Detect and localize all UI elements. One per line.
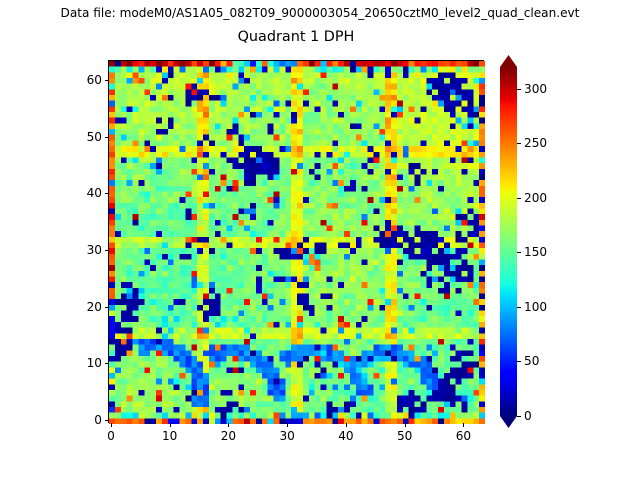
x-tick-label: 0 xyxy=(107,429,115,443)
colorbar-tick-label: 250 xyxy=(524,136,547,150)
x-tick-label: 50 xyxy=(397,429,412,443)
x-tick-label: 10 xyxy=(162,429,177,443)
y-tick-label: 50 xyxy=(62,130,102,144)
y-tick-label: 10 xyxy=(62,356,102,370)
y-tick-mark xyxy=(105,363,109,364)
y-tick-label: 20 xyxy=(62,300,102,314)
x-tick-mark xyxy=(111,423,112,427)
y-tick-mark xyxy=(105,420,109,421)
x-tick-mark xyxy=(405,423,406,427)
colorbar-tick-mark xyxy=(517,143,521,144)
x-tick-mark xyxy=(346,423,347,427)
colorbar-extend-top-arrow-icon xyxy=(500,55,517,67)
x-tick-label: 20 xyxy=(221,429,236,443)
colorbar-tick-label: 150 xyxy=(524,245,547,259)
x-tick-mark xyxy=(463,423,464,427)
figure-suptitle: Data file: modeM0/AS1A05_082T09_90000030… xyxy=(0,6,640,20)
colorbar-tick-mark xyxy=(517,307,521,308)
heatmap-image xyxy=(109,61,485,424)
colorbar-canvas xyxy=(500,67,517,416)
colorbar-tick-label: 50 xyxy=(524,354,539,368)
colorbar-tick-label: 300 xyxy=(524,82,547,96)
matplotlib-figure: Data file: modeM0/AS1A05_082T09_90000030… xyxy=(0,0,640,480)
colorbar-tick-mark xyxy=(517,361,521,362)
y-tick-mark xyxy=(105,193,109,194)
colorbar-tick-mark xyxy=(517,416,521,417)
heatmap-axes xyxy=(108,60,484,423)
x-tick-mark xyxy=(228,423,229,427)
y-tick-mark xyxy=(105,137,109,138)
y-tick-label: 40 xyxy=(62,186,102,200)
colorbar-tick-label: 100 xyxy=(524,300,547,314)
colorbar-tick-mark xyxy=(517,89,521,90)
colorbar-tick-label: 0 xyxy=(524,409,532,423)
axes-title: Quadrant 1 DPH xyxy=(108,29,484,46)
colorbar-tick-label: 200 xyxy=(524,191,547,205)
y-tick-mark xyxy=(105,307,109,308)
y-tick-mark xyxy=(105,250,109,251)
y-tick-mark xyxy=(105,80,109,81)
x-tick-mark xyxy=(170,423,171,427)
y-tick-label: 0 xyxy=(62,413,102,427)
colorbar-tick-mark xyxy=(517,198,521,199)
colorbar-gradient xyxy=(500,67,517,416)
y-tick-label: 30 xyxy=(62,243,102,257)
colorbar-extend-bottom-arrow-icon xyxy=(500,416,517,428)
x-tick-mark xyxy=(287,423,288,427)
y-tick-label: 60 xyxy=(62,73,102,87)
colorbar-tick-mark xyxy=(517,252,521,253)
x-tick-label: 60 xyxy=(456,429,471,443)
x-tick-label: 40 xyxy=(338,429,353,443)
colorbar: 050100150200250300 xyxy=(500,55,630,431)
x-tick-label: 30 xyxy=(279,429,294,443)
